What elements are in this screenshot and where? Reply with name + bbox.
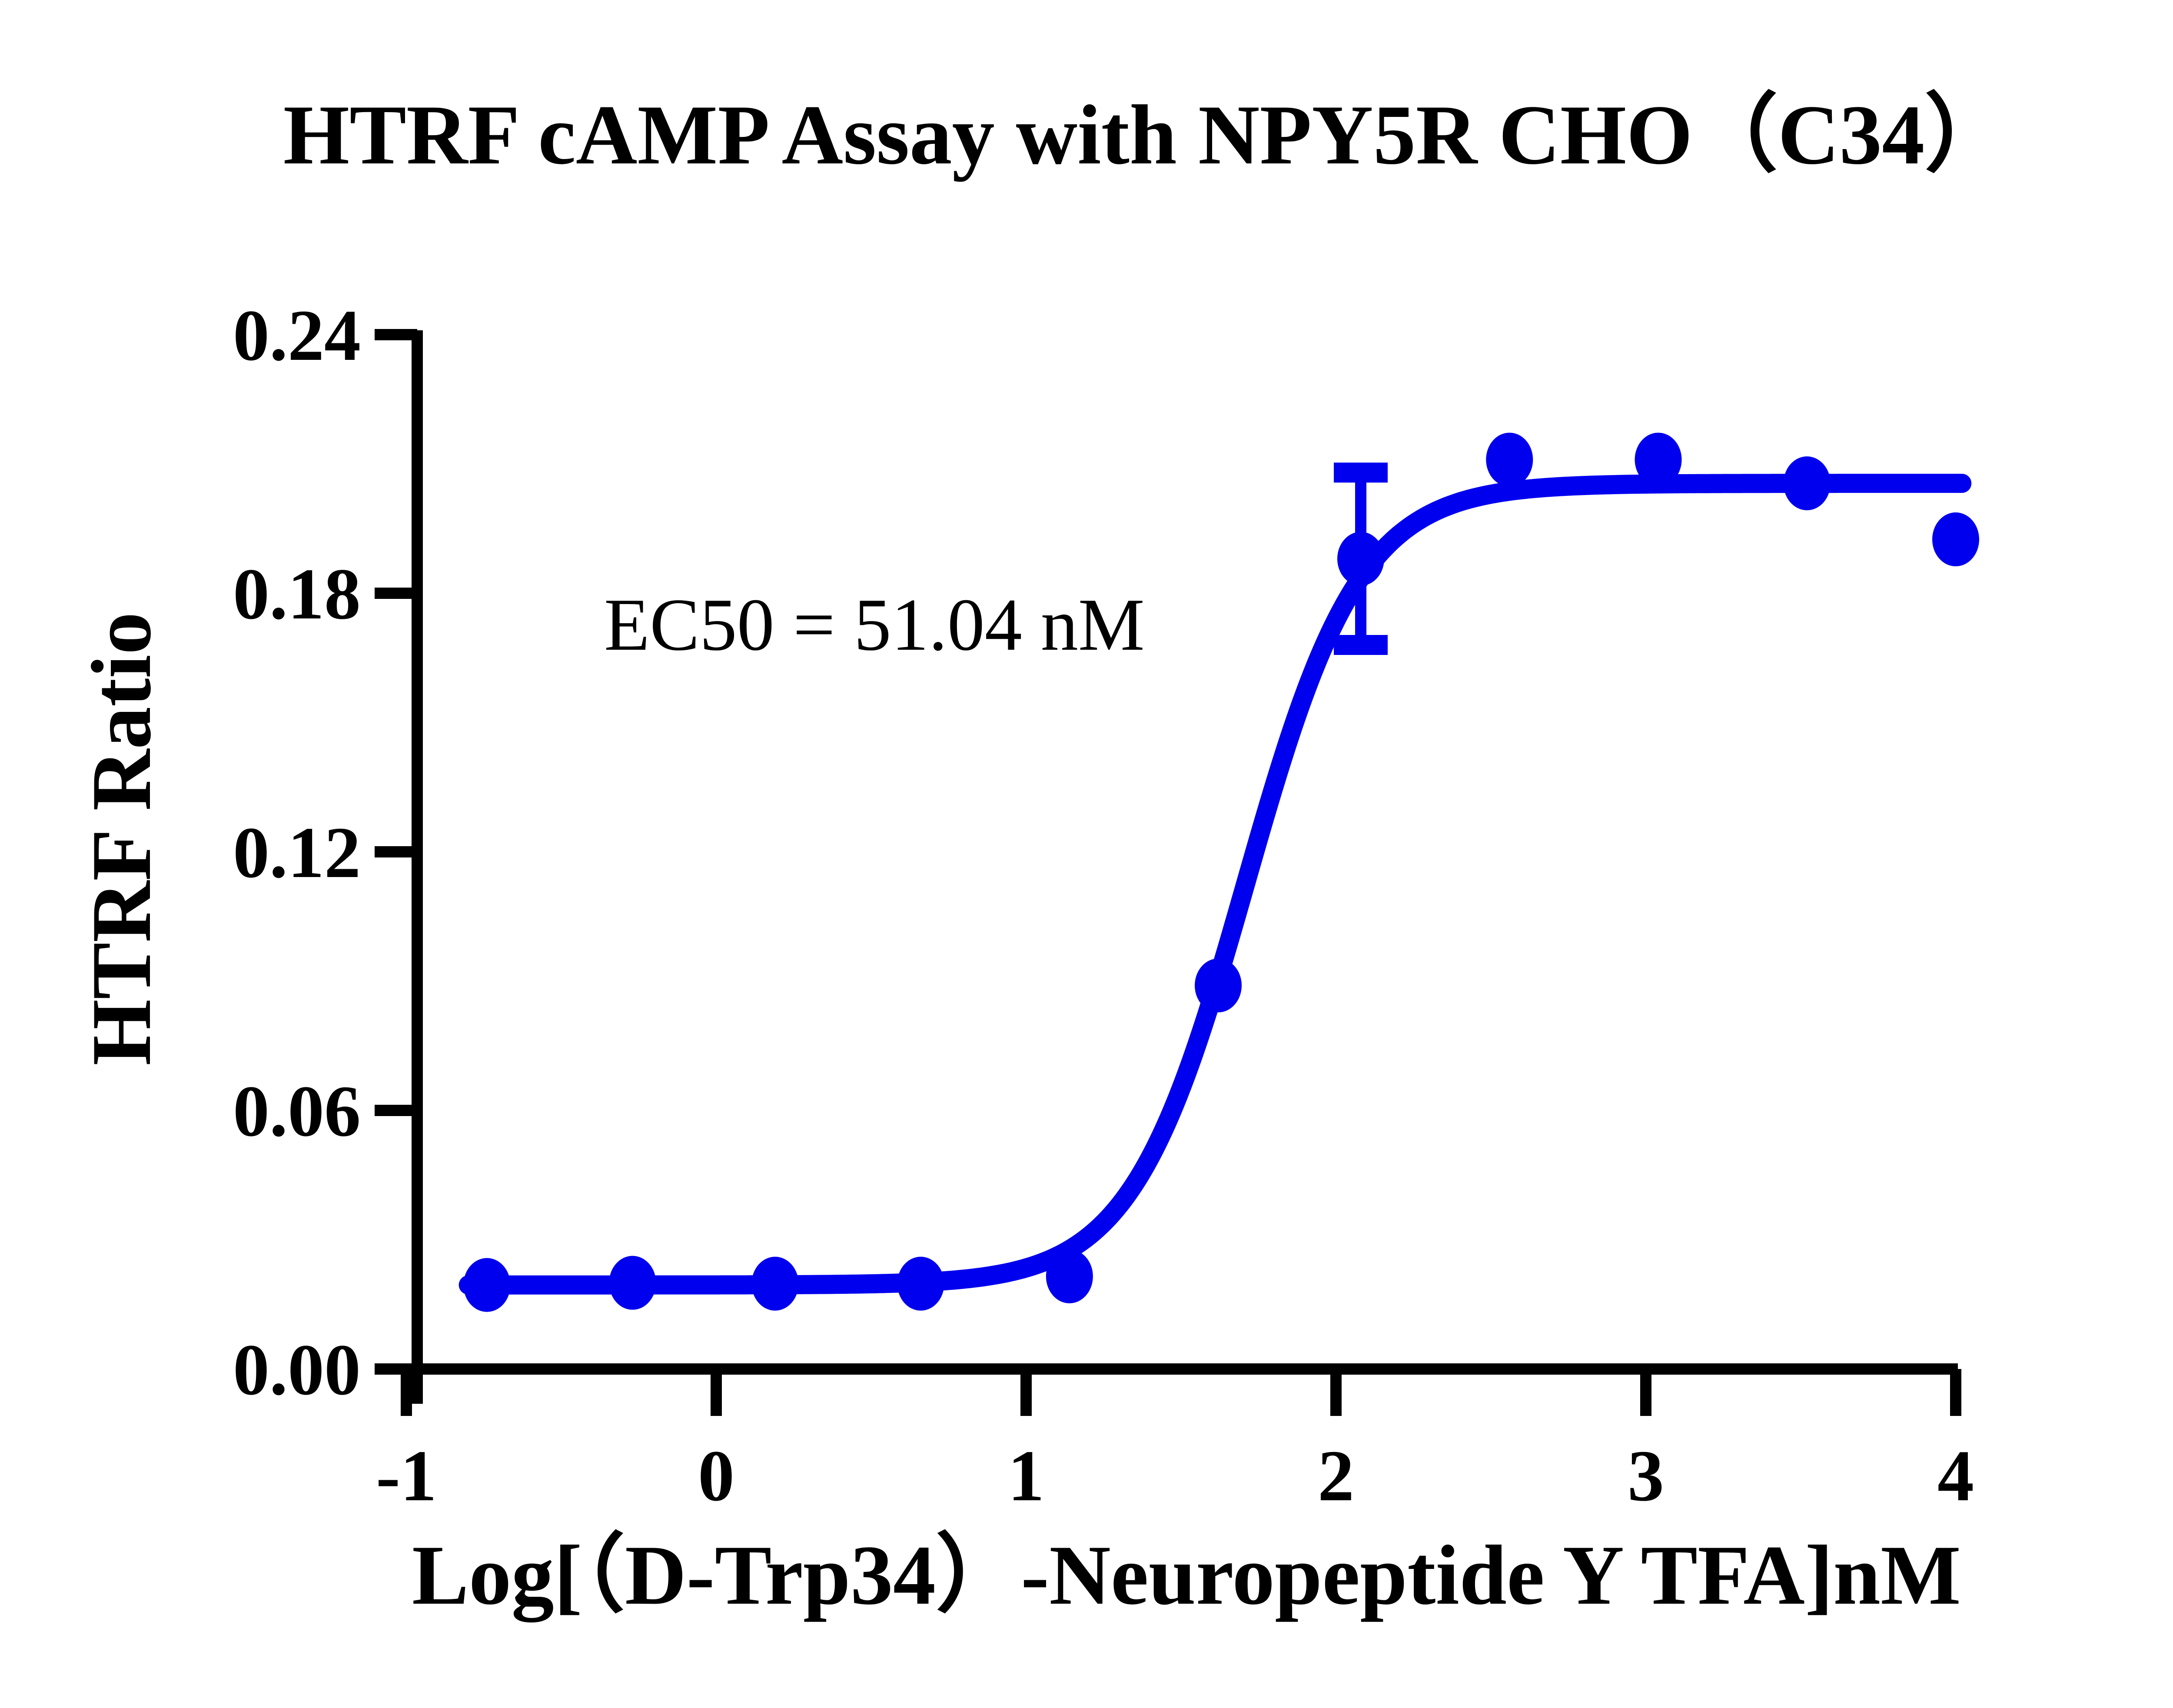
x-tick-label-1: 0 — [698, 1436, 734, 1516]
plot-canvas: 0.000.060.120.180.24 -101234 EC50 = 51.0… — [0, 0, 2173, 1708]
x-axis-tick-labels: -101234 — [376, 1436, 1974, 1516]
chart-figure: HTRF cAMP Assay with NPY5R CHO（C34） 0.00… — [0, 0, 2173, 1708]
y-axis-tick-labels: 0.000.060.120.180.24 — [233, 295, 361, 1410]
data-point-marker — [1486, 433, 1533, 487]
data-point-marker — [1337, 532, 1384, 586]
data-points-group — [463, 433, 1979, 1312]
y-tick-label-0: 0.00 — [233, 1329, 361, 1410]
data-point-marker — [609, 1256, 656, 1310]
x-tick-label-0: -1 — [376, 1436, 437, 1516]
y-tick-label-2: 0.12 — [233, 812, 361, 893]
x-tick-label-2: 1 — [1008, 1436, 1044, 1516]
data-point-marker — [897, 1257, 944, 1311]
data-point-marker — [1195, 958, 1242, 1012]
x-tick-label-4: 3 — [1628, 1436, 1664, 1516]
y-tick-label-3: 0.18 — [233, 554, 361, 635]
data-point-marker — [1932, 512, 1979, 566]
data-point-marker — [1784, 456, 1831, 510]
x-tick-label-3: 2 — [1318, 1436, 1354, 1516]
x-axis-ticks — [406, 1369, 1956, 1416]
data-point-marker — [751, 1257, 798, 1311]
x-axis-title: Log[（D-Trp34）-Neuropeptide Y TFA]nM — [412, 1528, 1961, 1622]
data-point-marker — [1046, 1249, 1093, 1303]
y-tick-label-1: 0.06 — [233, 1071, 361, 1152]
data-point-marker — [463, 1258, 510, 1312]
data-point-marker — [1635, 433, 1682, 487]
x-tick-label-5: 4 — [1937, 1436, 1974, 1516]
ec50-annotation: EC50 = 51.04 nM — [604, 584, 1145, 666]
y-tick-label-4: 0.24 — [233, 295, 361, 376]
y-axis-ticks — [375, 335, 417, 1369]
y-axis-title: HTRF Ratio — [74, 612, 169, 1065]
